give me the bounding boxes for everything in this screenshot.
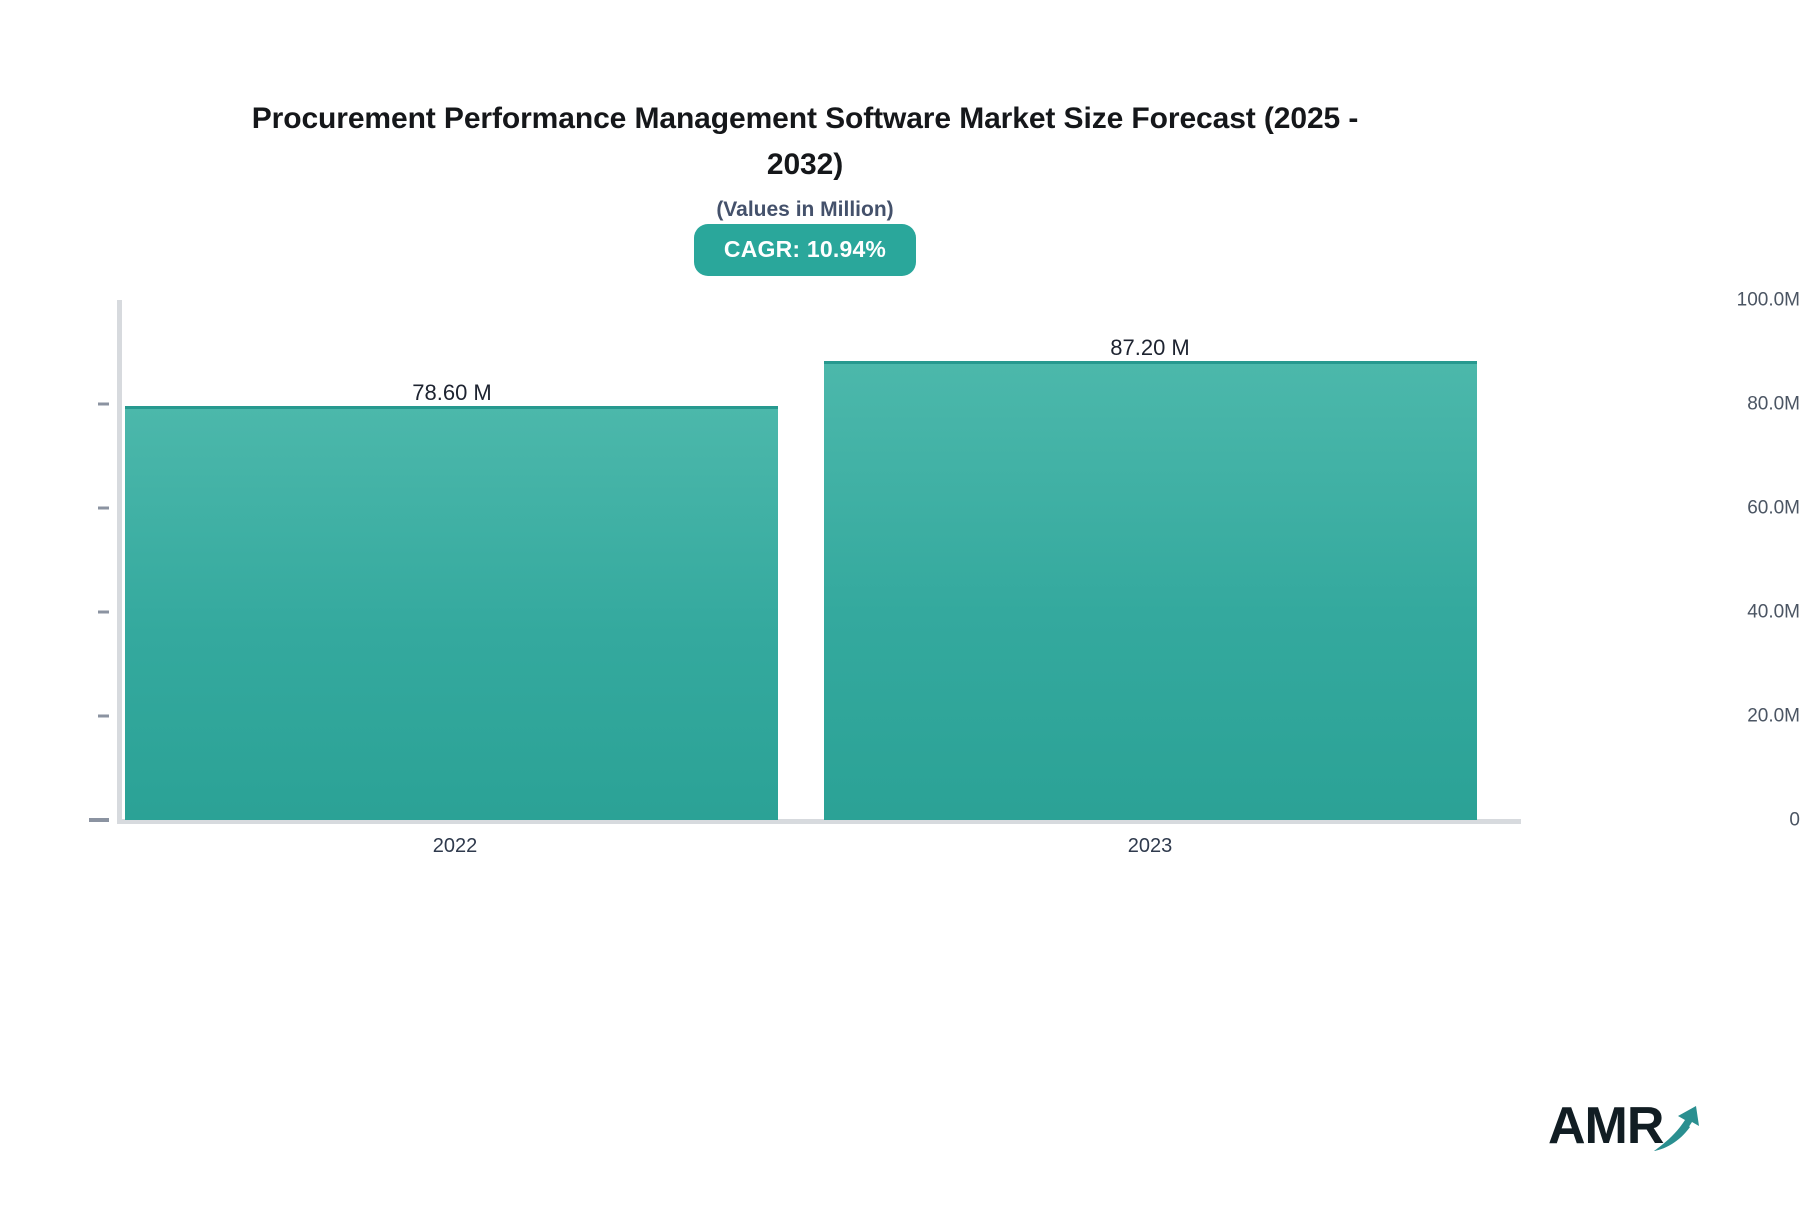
bar-2022-top-edge [125,406,778,409]
y-axis-line [117,300,122,821]
y-axis-tick-label-80: 80.0M [1700,395,1800,414]
plot-area: 100.0M 80.0M 60.0M 40.0M 20.0M 0 78.60 M… [0,0,1800,1212]
y-axis-tick-mark-0 [89,818,109,822]
x-axis-tick-label-2022: 2022 [330,836,580,856]
y-axis-tick-mark-40 [98,611,109,614]
chart-container: Procurement Performance Management Softw… [0,0,1800,1212]
y-axis-tick-label-40: 40.0M [1700,603,1800,622]
y-axis-tick-mark-60 [98,507,109,510]
amr-logo-text: AMR [1548,1100,1663,1152]
bar-value-label-2022: 78.60 M [277,382,627,404]
y-axis-tick-mark-20 [98,715,109,718]
y-axis-tick-label-60: 60.0M [1700,499,1800,518]
bar-2023[interactable] [824,361,1477,820]
amr-logo: AMR [1548,1098,1718,1160]
y-axis-tick-label-0: 0 [1700,811,1800,830]
x-axis-tick-label-2023: 2023 [1025,836,1275,856]
y-axis-tick-mark-80 [98,403,109,406]
growth-arrow-icon [1652,1104,1716,1161]
y-axis-tick-label-100: 100.0M [1700,291,1800,310]
bar-2022[interactable] [125,406,778,820]
bar-2023-top-edge [824,361,1477,364]
bar-value-label-2023: 87.20 M [975,337,1325,359]
y-axis-tick-label-20: 20.0M [1700,707,1800,726]
